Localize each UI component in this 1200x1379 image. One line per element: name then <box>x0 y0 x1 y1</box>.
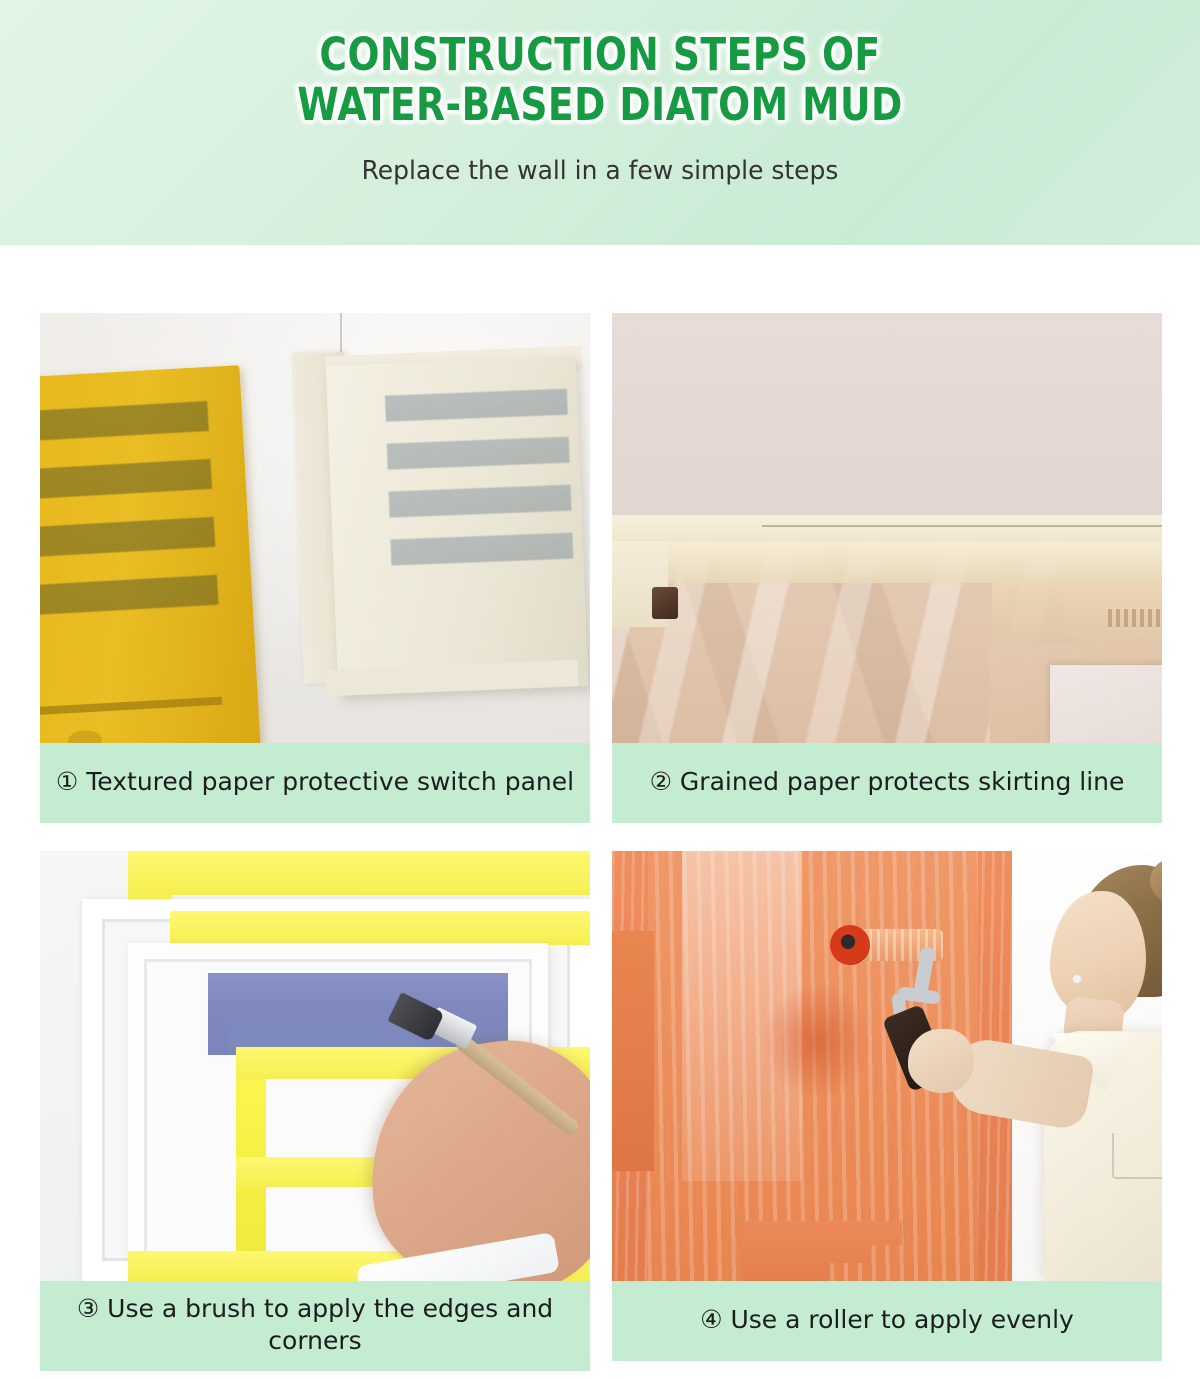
floor-trim-icon <box>1108 609 1162 627</box>
step-2-caption: ② Grained paper protects skirting line <box>612 743 1162 823</box>
orange-left-strip <box>612 931 654 1171</box>
step-card-1[interactable]: ① Textured paper protective switch panel <box>40 313 590 823</box>
page-subtitle: Replace the wall in a few simple steps <box>24 156 1176 186</box>
floor-socket-icon <box>652 587 678 619</box>
step-4-photo <box>612 851 1162 1281</box>
paper-seam-line <box>762 525 1162 527</box>
step-card-2[interactable]: ② Grained paper protects skirting line <box>612 313 1162 823</box>
masked-switch-panel-icon <box>326 356 588 695</box>
pink-wall <box>612 313 1162 521</box>
tape-strip-inner-top <box>170 911 590 945</box>
roller-end-cap <box>830 925 870 965</box>
step-card-4[interactable]: ④ Use a roller to apply evenly <box>612 851 1162 1371</box>
earring-icon <box>1073 975 1081 983</box>
white-paper-board <box>1050 665 1162 743</box>
step-1-caption: ① Textured paper protective switch panel <box>40 743 590 823</box>
step-3-photo <box>40 851 590 1281</box>
shirt-pocket <box>1112 1133 1162 1179</box>
hand-icon <box>908 1029 974 1093</box>
step-1-photo <box>40 313 590 743</box>
wet-paint-patch <box>762 981 872 1101</box>
step-card-3[interactable]: ③ Use a brush to apply the edges and cor… <box>40 851 590 1371</box>
page-header: CONSTRUCTION STEPS OF WATER-BASED DIATOM… <box>0 0 1200 245</box>
tape-strip-top <box>128 851 590 895</box>
step-3-caption: ③ Use a brush to apply the edges and cor… <box>40 1281 590 1371</box>
page-title: CONSTRUCTION STEPS OF WATER-BASED DIATOM… <box>42 30 1158 130</box>
steps-grid: ① Textured paper protective switch panel… <box>40 313 1162 1371</box>
step-4-caption: ④ Use a roller to apply evenly <box>612 1281 1162 1361</box>
yellow-switch-panel-icon <box>40 365 260 743</box>
paper-upper-band <box>667 541 1162 583</box>
step-2-photo <box>612 313 1162 743</box>
